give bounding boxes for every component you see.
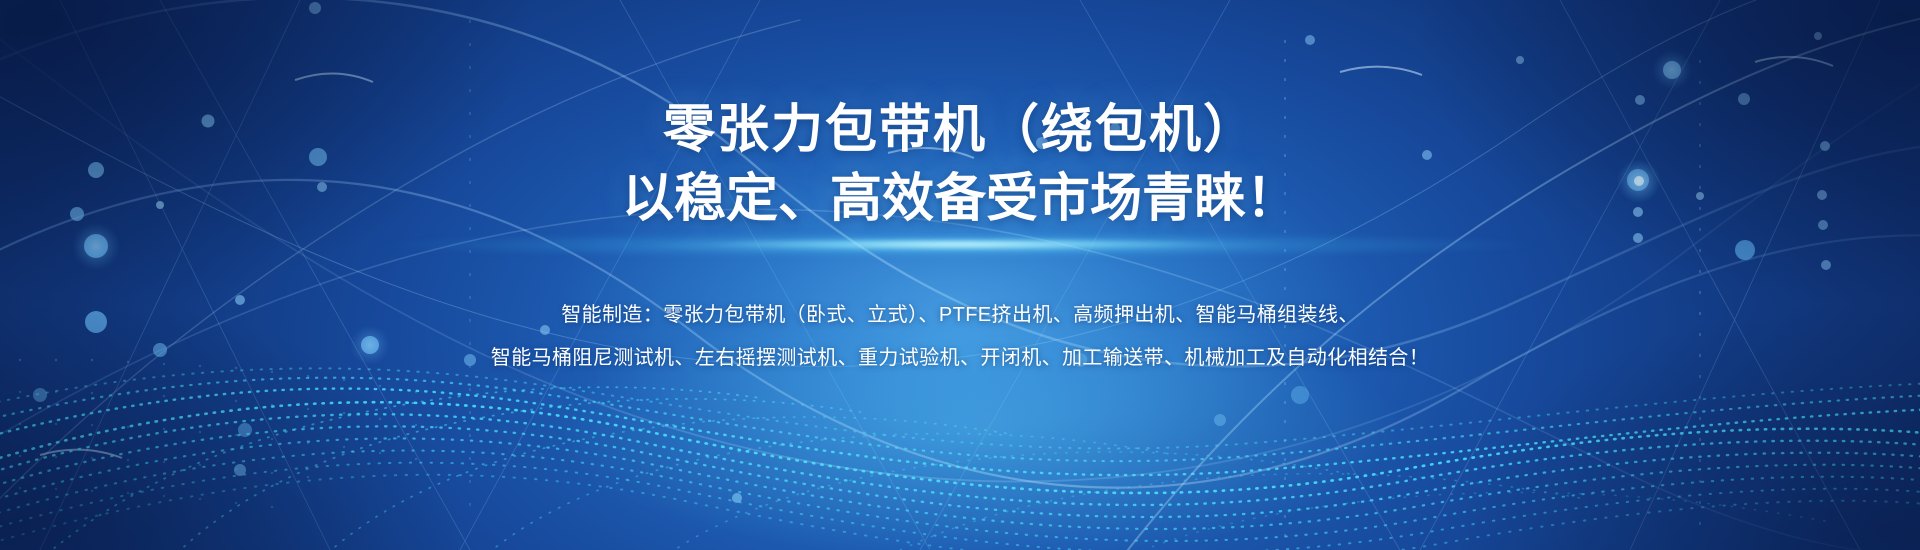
- subtitle-line-1: 智能制造：零张力包带机（卧式、立式）、PTFE挤出机、高频押出机、智能马桶组装线…: [561, 304, 1359, 326]
- hero-banner: 零张力包带机（绕包机） 以稳定、高效备受市场青睐！ 智能制造：零张力包带机（卧式…: [0, 0, 1920, 550]
- headline-line-1: 零张力包带机（绕包机）: [622, 96, 1298, 165]
- subtitle-line-2: 智能马桶阻尼测试机、左右摇摆测试机、重力试验机、开闭机、加工输送带、机械加工及自…: [491, 347, 1429, 369]
- banner-content: 零张力包带机（绕包机） 以稳定、高效备受市场青睐！ 智能制造：零张力包带机（卧式…: [0, 0, 1920, 550]
- headline-line-2: 以稳定、高效备受市场青睐！: [622, 165, 1298, 234]
- banner-headline: 零张力包带机（绕包机） 以稳定、高效备受市场青睐！: [622, 96, 1298, 233]
- banner-subtitle: 智能制造：零张力包带机（卧式、立式）、PTFE挤出机、高频押出机、智能马桶组装线…: [491, 294, 1429, 380]
